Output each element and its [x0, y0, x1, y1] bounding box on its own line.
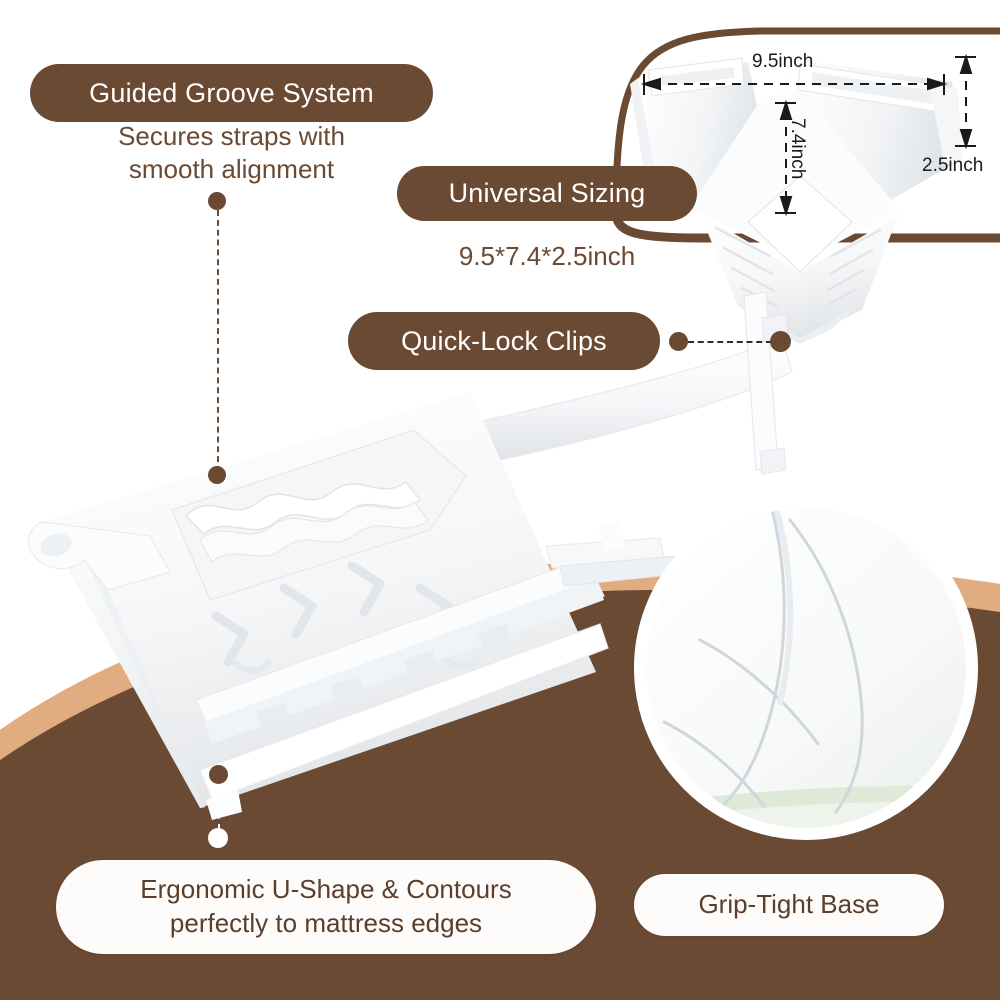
callout-dot-icon-guided-bottom	[208, 466, 226, 484]
callout-leader-quicklock	[688, 341, 772, 343]
feature-pill-quick-lock[interactable]: Quick-Lock Clips	[348, 312, 660, 370]
callout-dot-icon-guided-top	[208, 192, 226, 210]
feature-pill-ergonomic[interactable]: Ergonomic U-Shape & Contours perfectly t…	[56, 860, 596, 954]
callout-leader-guided	[217, 210, 219, 472]
feature-pill-guided-groove-label: Guided Groove System	[89, 79, 374, 107]
callout-dot-icon-quicklock-left	[669, 332, 688, 351]
feature-pill-ergonomic-label: Ergonomic U-Shape & Contours perfectly t…	[140, 873, 511, 941]
dimension-width-label: 9.5inch	[752, 51, 813, 73]
callout-dot-icon-ergonomic-top	[209, 765, 228, 784]
feature-desc-guided-groove: Secures straps with smooth alignment	[30, 120, 433, 187]
callout-dot-icon-quicklock-right	[770, 331, 791, 352]
feature-pill-guided-groove[interactable]: Guided Groove System	[30, 64, 433, 122]
feature-pill-quick-lock-label: Quick-Lock Clips	[401, 327, 607, 355]
feature-pill-grip-base-label: Grip-Tight Base	[698, 891, 879, 918]
callout-leader-ergonomic	[218, 790, 220, 830]
callout-dot-icon-ergonomic-bottom	[208, 828, 228, 848]
dimension-depth-label: 2.5inch	[922, 155, 983, 177]
feature-desc-universal-sizing: 9.5*7.4*2.5inch	[397, 240, 697, 273]
dimension-height-label: 7.4inch	[786, 118, 808, 179]
feature-pill-universal-sizing-label: Universal Sizing	[449, 179, 646, 207]
infographic-canvas: 9.5inch 7.4inch 2.5inch Guided Groove Sy…	[0, 0, 1000, 1000]
feature-pill-universal-sizing[interactable]: Universal Sizing	[397, 166, 697, 221]
feature-pill-grip-base[interactable]: Grip-Tight Base	[634, 874, 944, 936]
